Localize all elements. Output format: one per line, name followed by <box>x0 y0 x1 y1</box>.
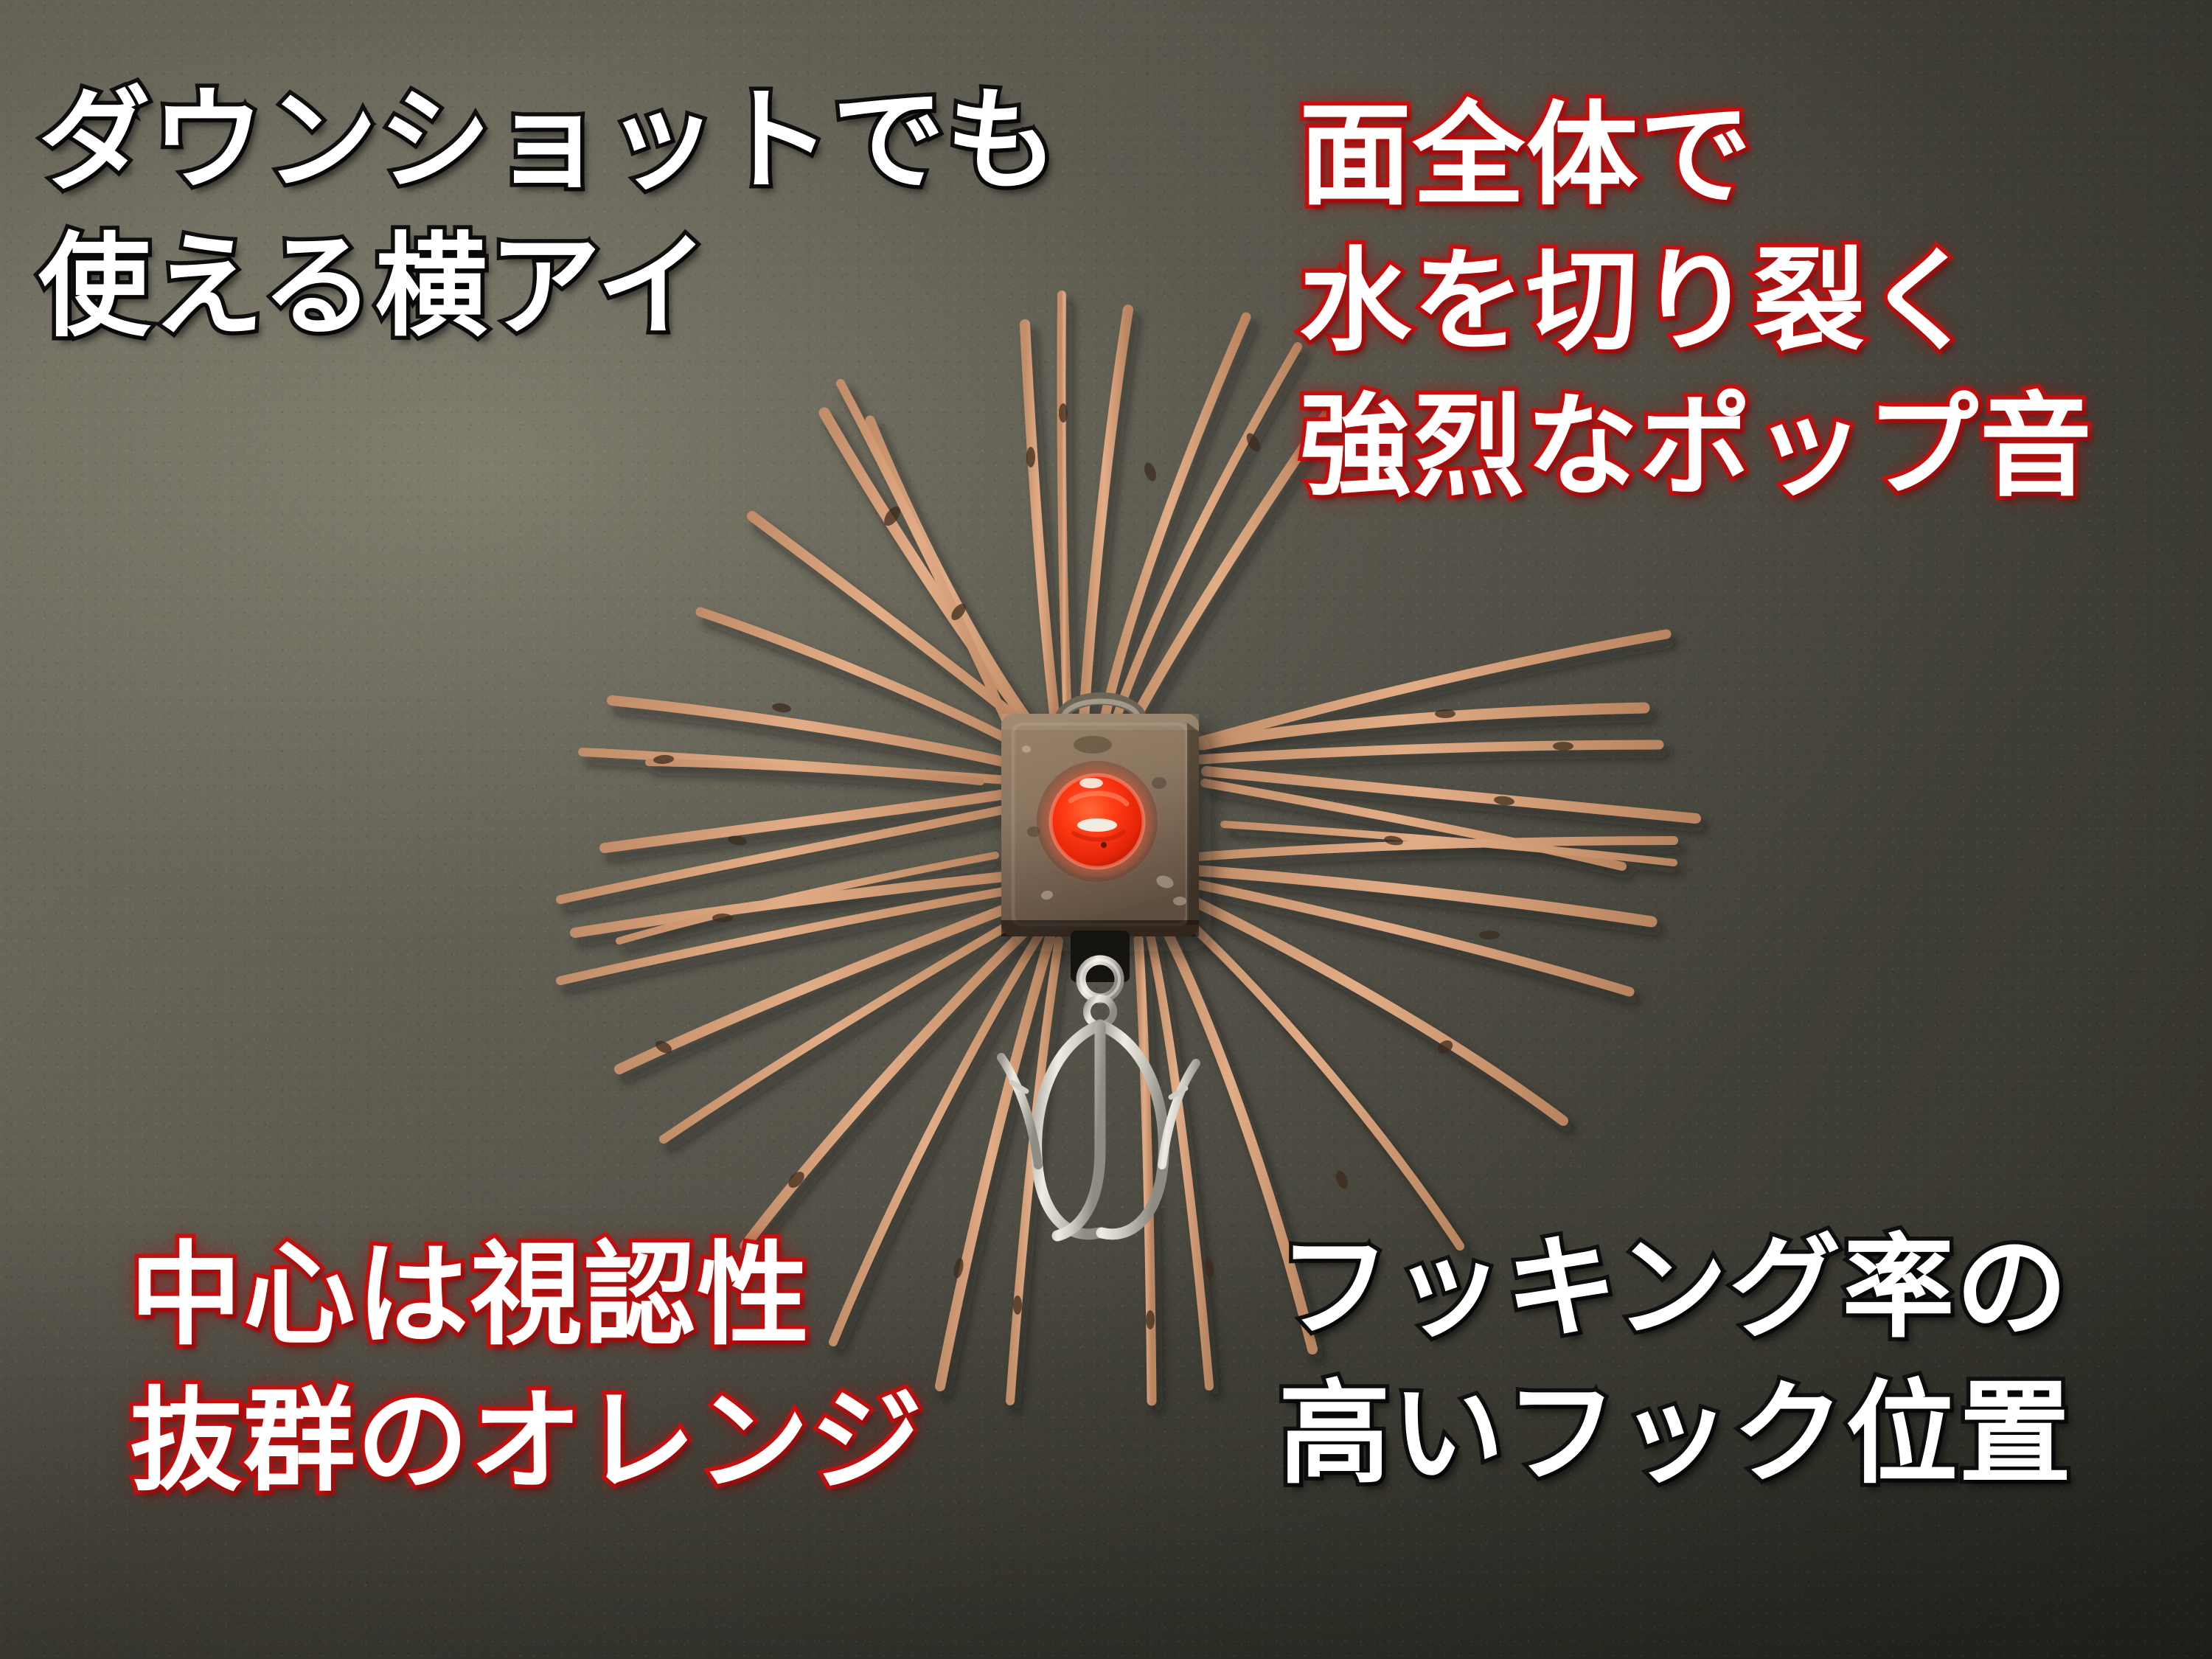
screenshot-canvas: ダウンショットでも 使える横アイ 面全体で 水を切り裂く 強烈なポップ音 中心は… <box>0 0 2212 1659</box>
caption-bottom-left: 中心は視認性 抜群のオレンジ <box>130 1222 924 1514</box>
caption-top-left-line-1: ダウンショットでも <box>38 68 1059 214</box>
caption-bottom-right-line-1: フッキング率の <box>1279 1215 2073 1361</box>
caption-top-left-line-2: 使える横アイ <box>38 214 1059 360</box>
caption-top-left: ダウンショットでも 使える横アイ <box>38 68 1059 359</box>
caption-top-right-line-1: 面全体で <box>1299 83 2093 229</box>
caption-top-right: 面全体で 水を切り裂く 強烈なポップ音 <box>1299 83 2093 520</box>
caption-top-right-line-3: 強烈なポップ音 <box>1299 374 2093 520</box>
caption-bottom-left-line-2: 抜群のオレンジ <box>130 1368 924 1514</box>
caption-bottom-right-line-2: 高いフック位置 <box>1279 1361 2073 1507</box>
caption-top-right-line-2: 水を切り裂く <box>1299 229 2093 375</box>
caption-bottom-left-line-1: 中心は視認性 <box>130 1222 924 1368</box>
caption-bottom-right: フッキング率の 高いフック位置 <box>1279 1215 2073 1506</box>
orange-center-cup-icon <box>1034 758 1161 885</box>
